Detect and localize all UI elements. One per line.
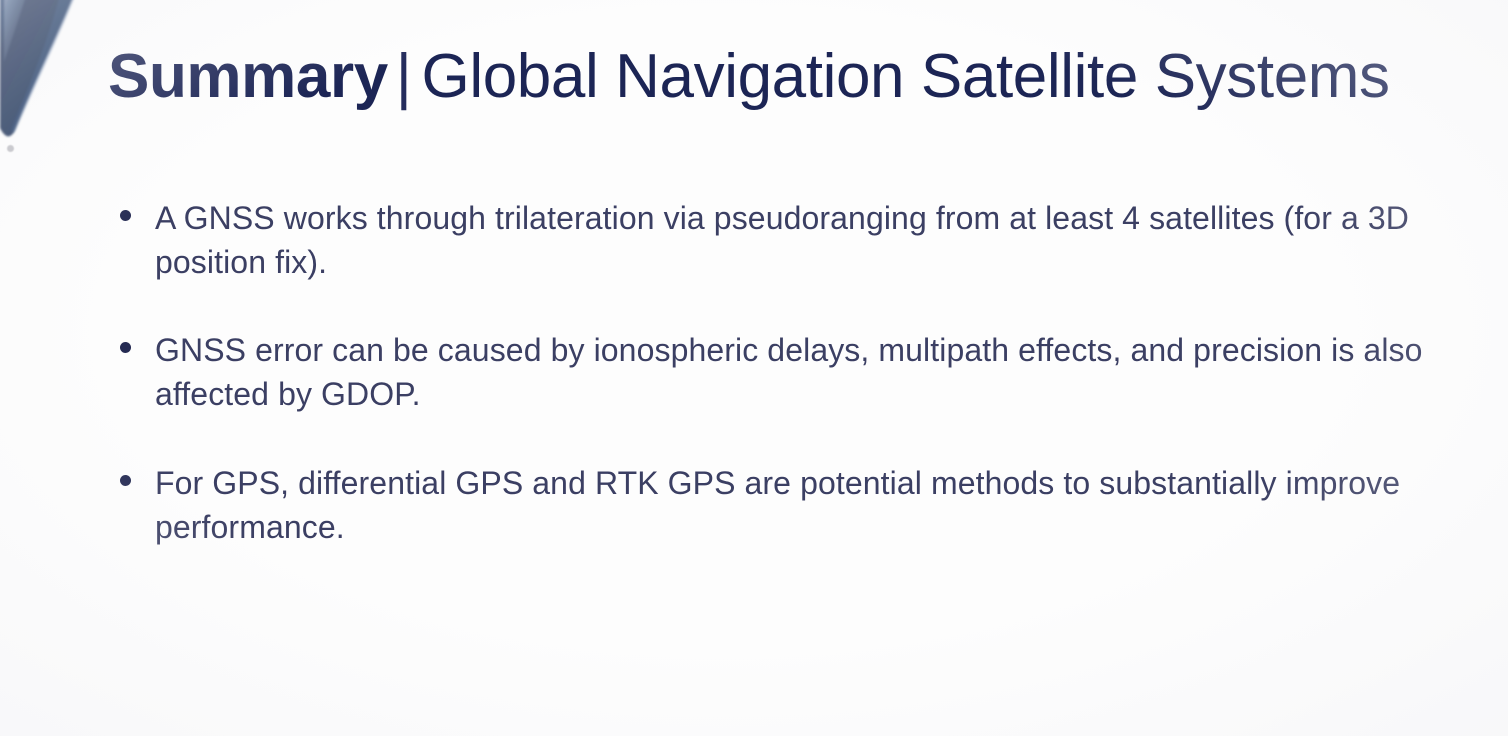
page-title-rest: Global Navigation Satellite Systems [422,42,1390,111]
presentation-slide: Summary|Global Navigation Satellite Syst… [0,0,1508,736]
bullet-dot-icon [120,210,131,221]
list-item: For GPS, differential GPS and RTK GPS ar… [118,461,1448,549]
list-item-text: GNSS error can be caused by ionospheric … [155,332,1441,412]
list-item-text: For GPS, differential GPS and RTK GPS ar… [155,465,1409,545]
page-title: Summary|Global Navigation Satellite Syst… [108,46,1390,108]
page-title-emphasis: Summary [108,42,388,111]
list-item-text: A GNSS works through trilateration via p… [155,200,1418,280]
page-title-separator: | [388,42,422,111]
list-item: A GNSS works through trilateration via p… [118,196,1448,284]
list-item: GNSS error can be caused by ionospheric … [118,328,1448,416]
corner-speck [7,145,14,152]
bullet-list: A GNSS works through trilateration via p… [118,196,1448,549]
bullet-dot-icon [120,342,131,353]
bullet-dot-icon [120,475,131,486]
